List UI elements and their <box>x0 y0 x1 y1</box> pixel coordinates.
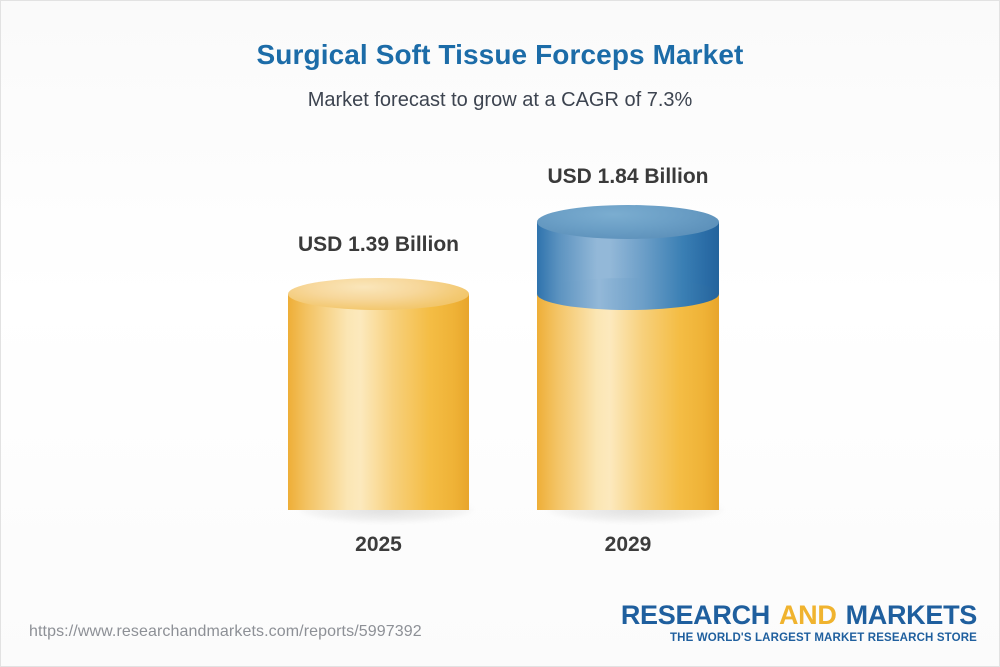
cylinder-body-yellow <box>537 294 719 510</box>
value-label-2025: USD 1.39 Billion <box>288 233 469 257</box>
brand-word-and: AND <box>779 600 837 630</box>
page-title: Surgical Soft Tissue Forceps Market <box>1 39 999 71</box>
chart-stage: Surgical Soft Tissue Forceps Market Mark… <box>1 1 999 666</box>
category-label-2025: 2025 <box>288 533 469 557</box>
brand-logo[interactable]: RESEARCHANDMARKETS THE WORLD'S LARGEST M… <box>621 601 977 644</box>
brand-wordmark: RESEARCHANDMARKETS <box>621 601 977 629</box>
report-url[interactable]: https://www.researchandmarkets.com/repor… <box>29 623 422 641</box>
bar-cylinder-2025 <box>288 278 469 510</box>
cylinder-top-cap-yellow <box>288 278 469 310</box>
category-label-2029: 2029 <box>537 533 719 557</box>
brand-word-research: RESEARCH <box>621 600 770 630</box>
chart-subtitle: Market forecast to grow at a CAGR of 7.3… <box>1 89 999 112</box>
brand-tagline: THE WORLD'S LARGEST MARKET RESEARCH STOR… <box>621 632 977 644</box>
cylinder-body-yellow <box>288 294 469 510</box>
value-label-2029: USD 1.84 Billion <box>537 165 719 189</box>
infographic-card: Surgical Soft Tissue Forceps Market Mark… <box>0 0 1000 667</box>
cylinder-segment-join-blue <box>537 278 719 310</box>
bar-cylinder-2029 <box>537 205 719 510</box>
brand-word-markets: MARKETS <box>846 600 977 630</box>
cylinder-top-cap-blue <box>537 205 719 239</box>
